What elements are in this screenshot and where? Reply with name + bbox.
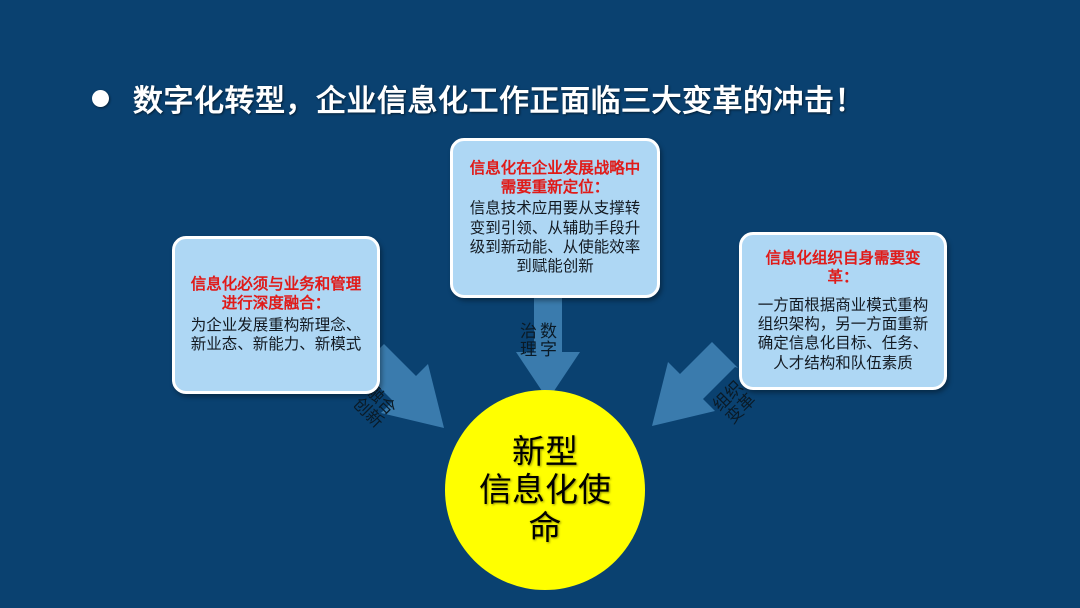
arrow-center-label-col2: 治理 xyxy=(517,322,534,358)
center-node-line3: 命 xyxy=(470,509,620,547)
card-repositioning-body: 信息技术应用要从支撑转变到引领、从辅助手段升级到新动能、从使能效率到赋能创新 xyxy=(463,199,647,277)
card-repositioning-heading: 信息化在企业发展战略中需要重新定位： xyxy=(463,159,647,197)
center-node-line2: 信息化使 xyxy=(470,471,620,509)
card-org-reform[interactable]: 信息化组织自身需要变革： 一方面根据商业模式重构组织架构，另一方面重新确定信息化… xyxy=(739,232,947,390)
card-org-reform-body: 一方面根据商业模式重构组织架构，另一方面重新确定信息化目标、任务、人才结构和队伍… xyxy=(752,296,934,374)
arrow-center-label-col1: 数字 xyxy=(537,322,554,358)
card-repositioning[interactable]: 信息化在企业发展战略中需要重新定位： 信息技术应用要从支撑转变到引领、从辅助手段… xyxy=(450,138,660,298)
page-title: 数字化转型，企业信息化工作正面临三大变革的冲击！ xyxy=(92,76,865,120)
slide-canvas: 数字化转型，企业信息化工作正面临三大变革的冲击！ 信息化必须与业务和管理进行深度… xyxy=(0,0,1080,608)
center-node-circle[interactable]: 新型 信息化使 命 xyxy=(445,390,645,590)
card-integration-body: 为企业发展重构新理念、新业态、新能力、新模式 xyxy=(185,316,367,355)
bullet-dot-icon xyxy=(92,90,109,107)
arrow-center-label: 数字 治理 xyxy=(517,322,554,358)
page-title-text: 数字化转型，企业信息化工作正面临三大变革的冲击！ xyxy=(133,76,865,120)
center-node-line1: 新型 xyxy=(470,433,620,471)
card-org-reform-heading: 信息化组织自身需要变革： xyxy=(752,249,934,287)
card-integration-heading: 信息化必须与业务和管理进行深度融合： xyxy=(185,275,367,313)
card-integration[interactable]: 信息化必须与业务和管理进行深度融合： 为企业发展重构新理念、新业态、新能力、新模… xyxy=(172,236,380,394)
center-node-text: 新型 信息化使 命 xyxy=(470,433,620,548)
